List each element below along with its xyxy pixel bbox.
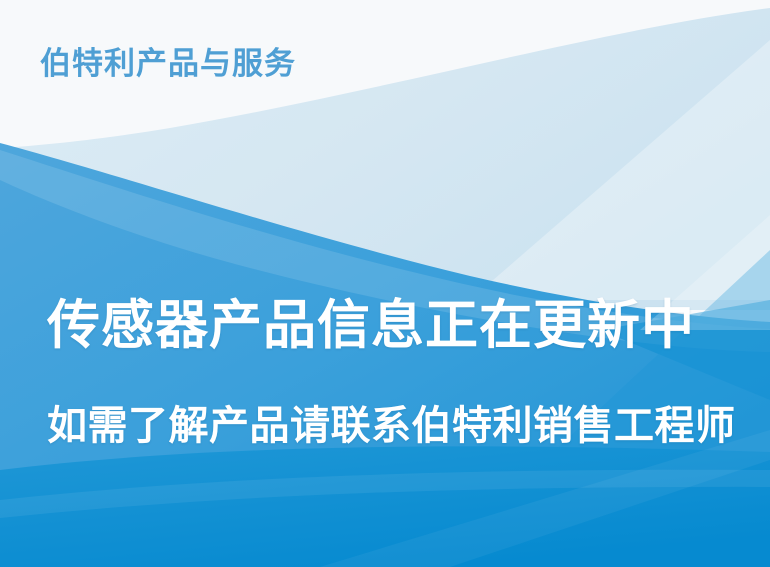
text-layer: 伯特利产品与服务 传感器产品信息正在更新中 如需了解产品请联系伯特利销售工程师 (0, 0, 770, 567)
headline-primary: 传感器产品信息正在更新中 (47, 296, 695, 355)
page-title: 伯特利产品与服务 (40, 47, 296, 81)
headline-secondary: 如需了解产品请联系伯特利销售工程师 (47, 404, 736, 449)
product-service-banner: 伯特利产品与服务 传感器产品信息正在更新中 如需了解产品请联系伯特利销售工程师 (0, 0, 770, 567)
